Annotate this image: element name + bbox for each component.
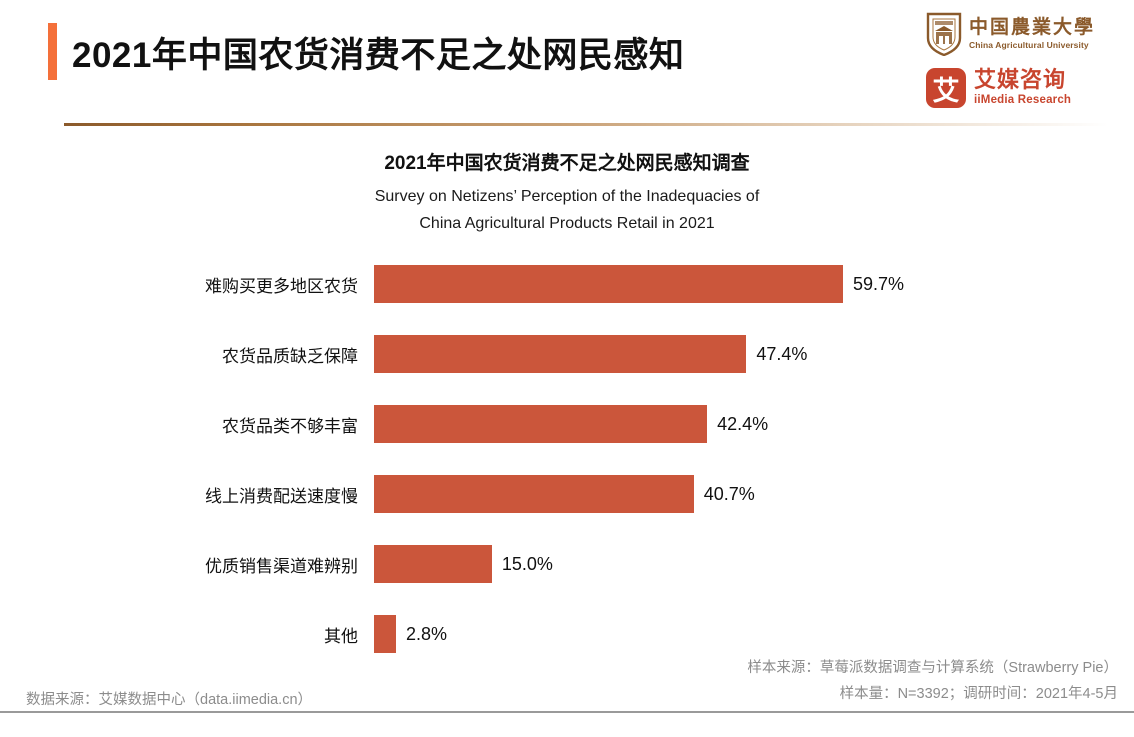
research-name-en: iiMedia Research bbox=[974, 95, 1071, 107]
bar-row: 农货品类不够丰富42.4% bbox=[0, 405, 1134, 443]
bar-segment bbox=[374, 335, 746, 373]
bar-value-label: 59.7% bbox=[853, 274, 904, 295]
bar-segment bbox=[374, 475, 694, 513]
sample-note: 样本来源：草莓派数据调查与计算系统（Strawberry Pie） 样本量：N=… bbox=[648, 655, 1118, 707]
bar-value-label: 47.4% bbox=[756, 344, 807, 365]
bar-segment bbox=[374, 265, 843, 303]
bar-segment bbox=[374, 615, 396, 653]
sample-source-line: 样本来源：草莓派数据调查与计算系统（Strawberry Pie） bbox=[648, 655, 1118, 681]
bar-row: 线上消费配送速度慢40.7% bbox=[0, 475, 1134, 513]
bar-category-label: 农货品质缺乏保障 bbox=[60, 342, 358, 367]
university-name-cn: 中国農業大學 bbox=[969, 18, 1095, 37]
bar-row: 优质销售渠道难辨别15.0% bbox=[0, 545, 1134, 583]
bar-category-label: 其他 bbox=[60, 622, 358, 647]
title-accent-bar bbox=[48, 23, 57, 80]
bar-category-label: 难购买更多地区农货 bbox=[60, 272, 358, 297]
bar-value-label: 15.0% bbox=[502, 554, 553, 575]
bar-value-label: 40.7% bbox=[704, 484, 755, 505]
data-source-note: 数据来源：艾媒数据中心（data.iimedia.cn） bbox=[26, 688, 312, 709]
header-divider bbox=[64, 123, 1108, 126]
shield-emblem-icon bbox=[926, 12, 962, 56]
university-name-en: China Agricultural University bbox=[969, 41, 1095, 50]
university-wordmark: 中国農業大學 China Agricultural University bbox=[969, 18, 1095, 50]
footer-divider bbox=[0, 711, 1134, 713]
bar-segment bbox=[374, 405, 707, 443]
research-wordmark: 艾媒咨询 iiMedia Research bbox=[974, 69, 1071, 107]
research-name-cn: 艾媒咨询 bbox=[974, 69, 1071, 91]
bar-category-label: 优质销售渠道难辨别 bbox=[60, 552, 358, 577]
chart-subtitle-line-1: Survey on Netizens’ Perception of the In… bbox=[0, 183, 1134, 210]
sample-info-line: 样本量：N=3392；调研时间：2021年4-5月 bbox=[648, 681, 1118, 707]
bar-category-label: 农货品类不够丰富 bbox=[60, 412, 358, 437]
bar-category-label: 线上消费配送速度慢 bbox=[60, 482, 358, 507]
bar-row: 其他2.8% bbox=[0, 615, 1134, 653]
bar-value-label: 2.8% bbox=[406, 624, 447, 645]
iimedia-mark-icon: 艾 bbox=[926, 68, 966, 108]
bar-value-label: 42.4% bbox=[717, 414, 768, 435]
page-title: 2021年中国农货消费不足之处网民感知 bbox=[72, 27, 684, 78]
chart-title: 2021年中国农货消费不足之处网民感知调查 bbox=[0, 148, 1134, 175]
page-header: 2021年中国农货消费不足之处网民感知 中国農業大學 China Agricul… bbox=[0, 0, 1134, 118]
chart-subtitle-line-2: China Agricultural Products Retail in 20… bbox=[0, 210, 1134, 237]
chart-subtitle: Survey on Netizens’ Perception of the In… bbox=[0, 183, 1134, 237]
bar-segment bbox=[374, 545, 492, 583]
research-logo: 艾 艾媒咨询 iiMedia Research bbox=[926, 68, 1071, 108]
bar-chart: 难购买更多地区农货59.7%农货品质缺乏保障47.4%农货品类不够丰富42.4%… bbox=[0, 255, 1134, 655]
university-logo: 中国農業大學 China Agricultural University bbox=[926, 12, 1095, 56]
bar-row: 难购买更多地区农货59.7% bbox=[0, 265, 1134, 303]
logo-block: 中国農業大學 China Agricultural University 艾 艾… bbox=[926, 10, 1112, 118]
bar-row: 农货品质缺乏保障47.4% bbox=[0, 335, 1134, 373]
